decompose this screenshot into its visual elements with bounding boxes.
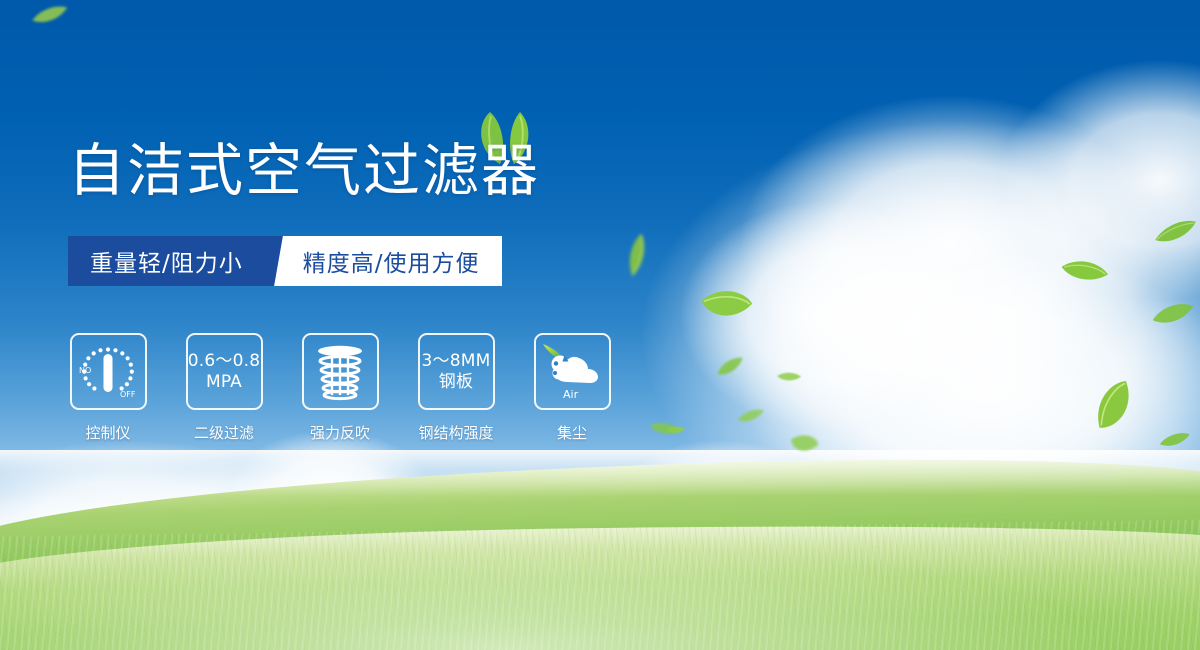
tagline-right: 精度高/使用方便 (297, 236, 502, 286)
feature-value-line2: 钢板 (422, 372, 491, 392)
feature-label: 强力反吹 (310, 422, 370, 443)
coil-stack-icon (302, 333, 379, 410)
feature-label: 集尘 (557, 422, 587, 443)
tagline-bar: 重量轻/阻力小 精度高/使用方便 (68, 236, 502, 286)
feature-item[interactable]: NO OFF 控制仪 (68, 333, 148, 443)
feature-label: 钢结构强度 (418, 422, 493, 443)
tagline-divider (263, 236, 297, 286)
feature-list: NO OFF 控制仪 0.6～0.8 MPA 二级过滤 (68, 333, 612, 443)
steel-plate-value-icon: 3～8MM 钢板 (418, 333, 495, 410)
gauge-off-label: OFF (120, 390, 136, 399)
gauge-dial-icon: NO OFF (70, 333, 147, 410)
tagline-left: 重量轻/阻力小 (68, 236, 263, 286)
cloud-air-icon: Air (534, 333, 611, 410)
cloud-air-caption: Air (563, 388, 579, 401)
feature-value-line2: MPA (188, 372, 260, 392)
feature-value: 3～8MM 钢板 (422, 351, 491, 391)
air-filter-banner: 自洁式空气过滤器 重量轻/阻力小 精度高/使用方便 (0, 0, 1200, 650)
feature-label: 二级过滤 (194, 422, 254, 443)
feature-item[interactable]: Air 集尘 (532, 333, 612, 443)
feature-value-line1: 0.6～0.8 (188, 351, 260, 371)
feature-item[interactable]: 3～8MM 钢板 钢结构强度 (416, 333, 496, 443)
feature-item[interactable]: 强力反吹 (300, 333, 380, 443)
feature-label: 控制仪 (85, 422, 130, 443)
feature-value: 0.6～0.8 MPA (188, 351, 260, 391)
pressure-value-icon: 0.6～0.8 MPA (186, 333, 263, 410)
feature-value-line1: 3～8MM (422, 351, 491, 371)
banner-content: 自洁式空气过滤器 重量轻/阻力小 精度高/使用方便 (0, 0, 1200, 650)
feature-item[interactable]: 0.6～0.8 MPA 二级过滤 (184, 333, 264, 443)
page-title: 自洁式空气过滤器 (68, 143, 540, 200)
gauge-on-label: NO (79, 366, 91, 375)
